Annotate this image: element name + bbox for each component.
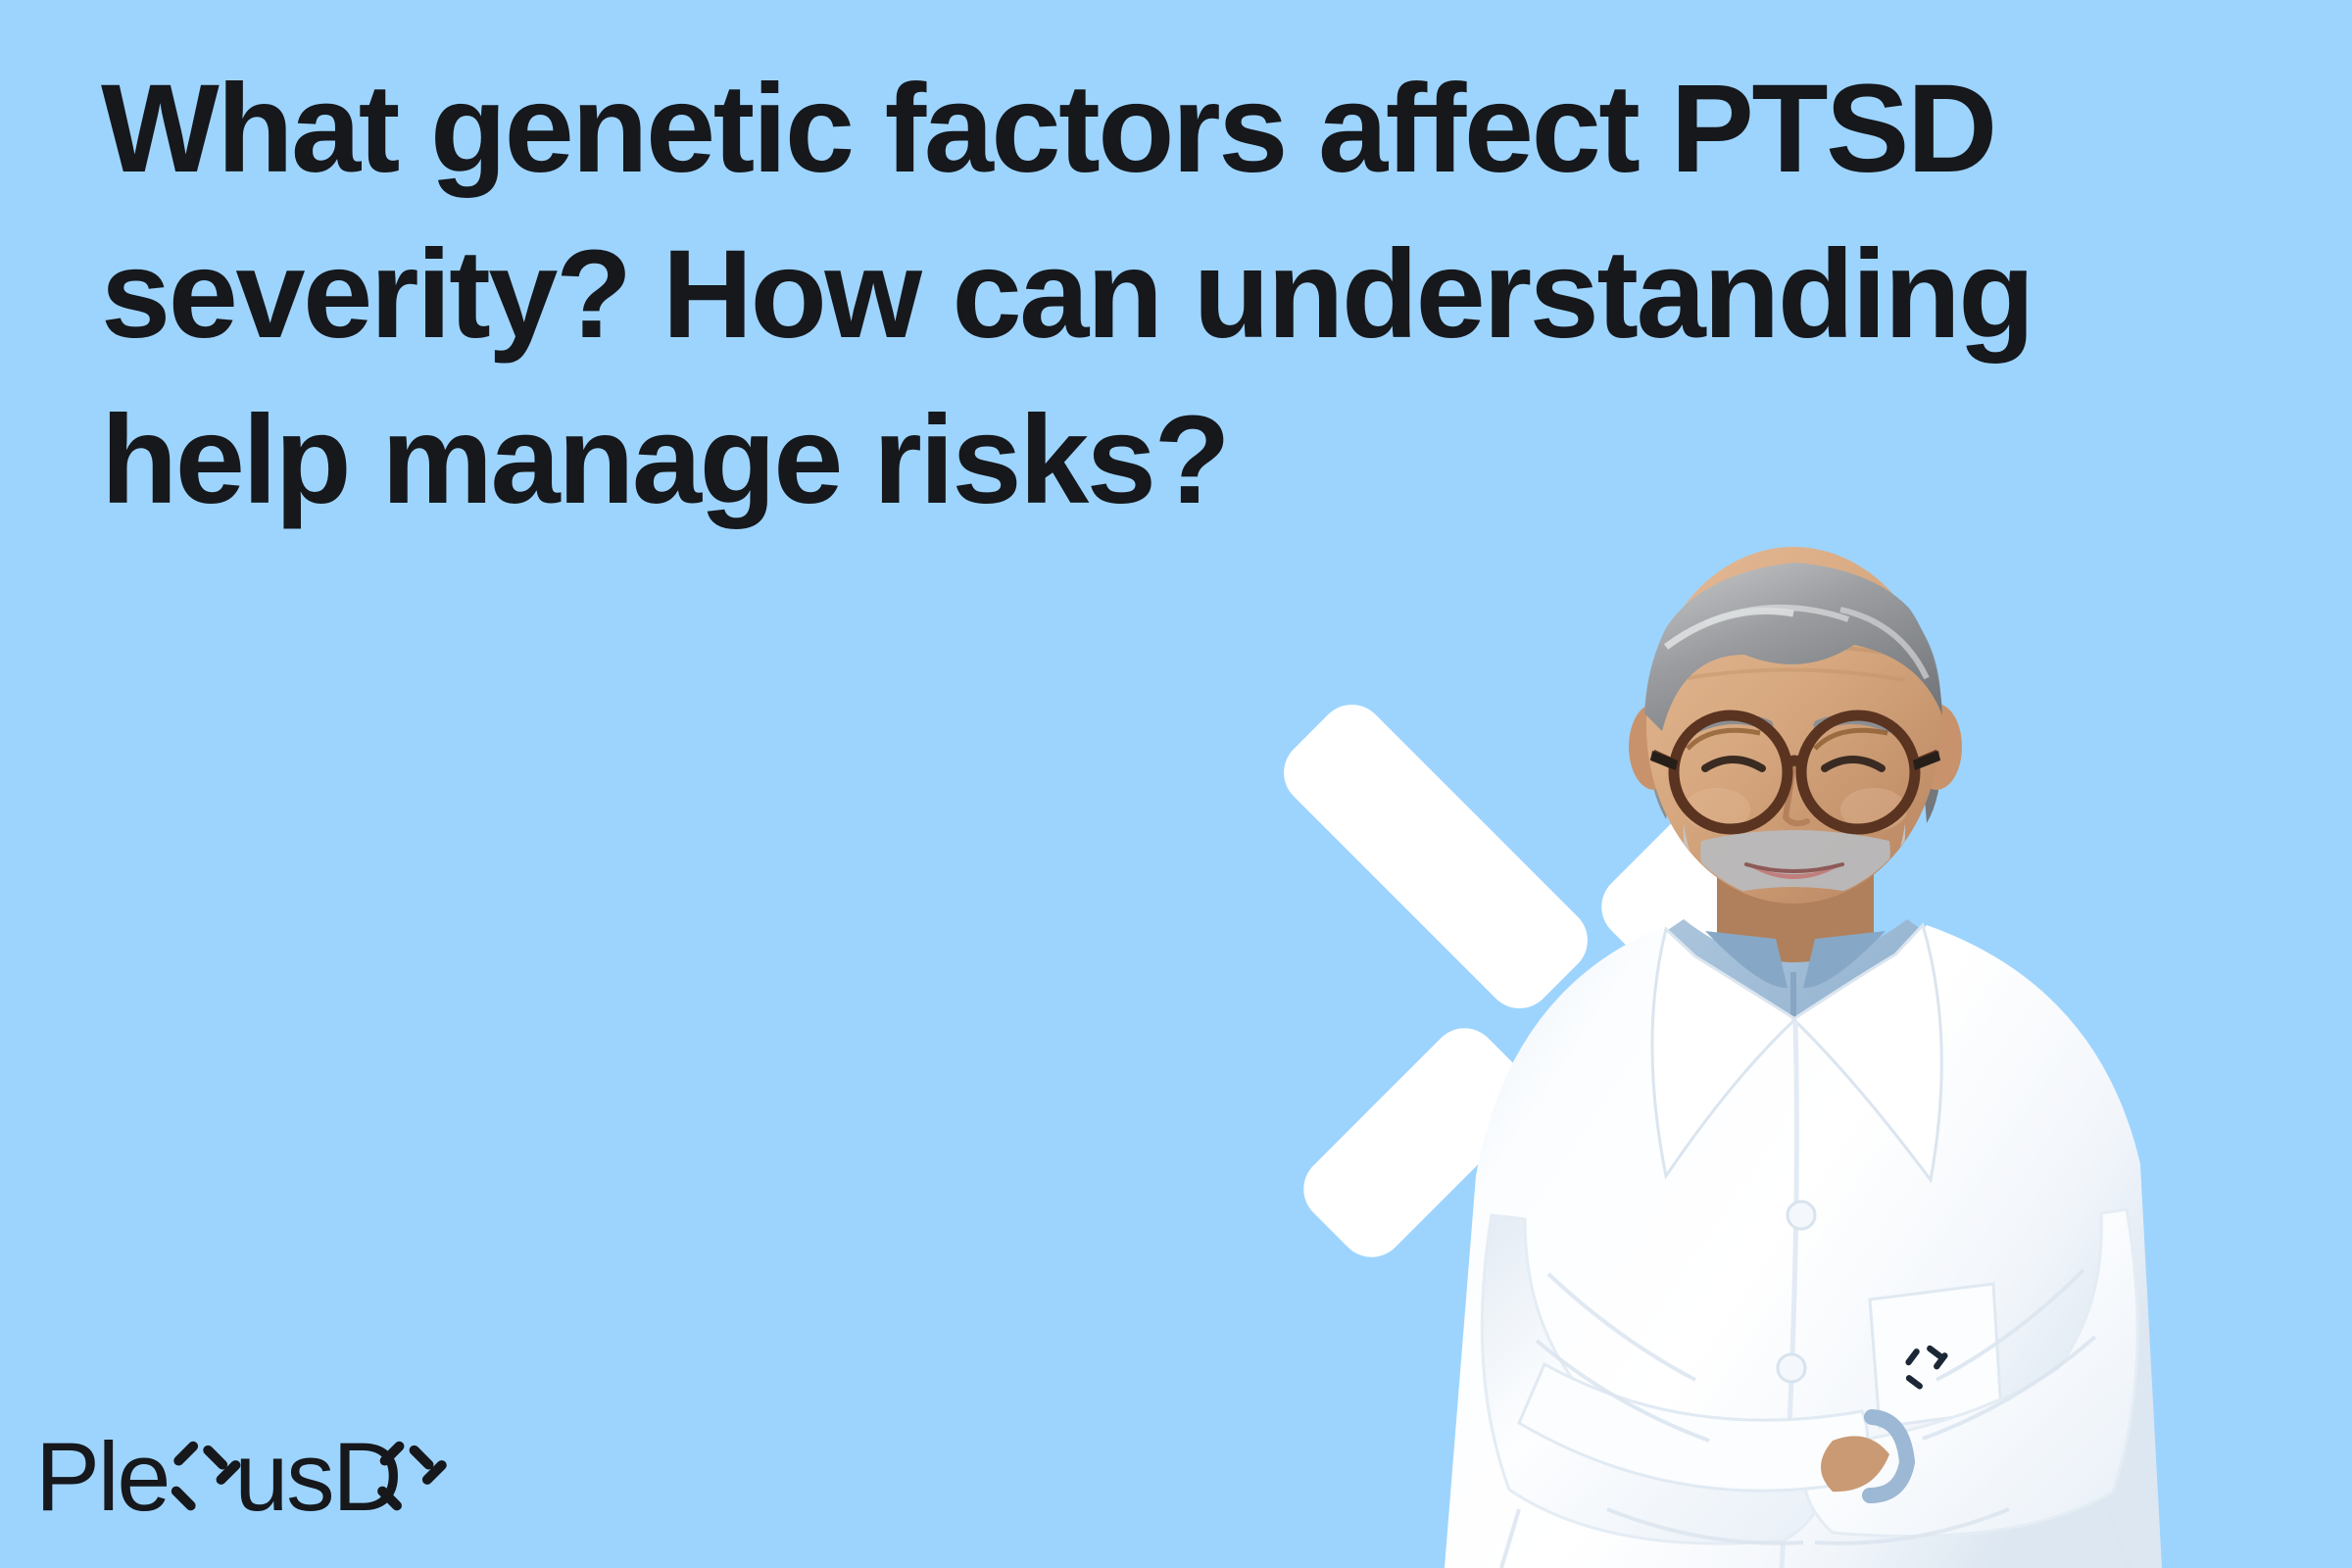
logo-x-icon-1 — [170, 1440, 243, 1513]
page-title: What genetic factors affect PTSD severit… — [101, 47, 2228, 544]
svg-text:Ple: Ple — [35, 1422, 169, 1531]
svg-text:usD: usD — [234, 1422, 400, 1531]
plexusdx-logo[interactable]: Ple usD PlexusDx — [35, 1419, 460, 1533]
doctor-portrait-image — [1372, 529, 2195, 1568]
social-card: What genetic factors affect PTSD severit… — [0, 0, 2352, 1568]
